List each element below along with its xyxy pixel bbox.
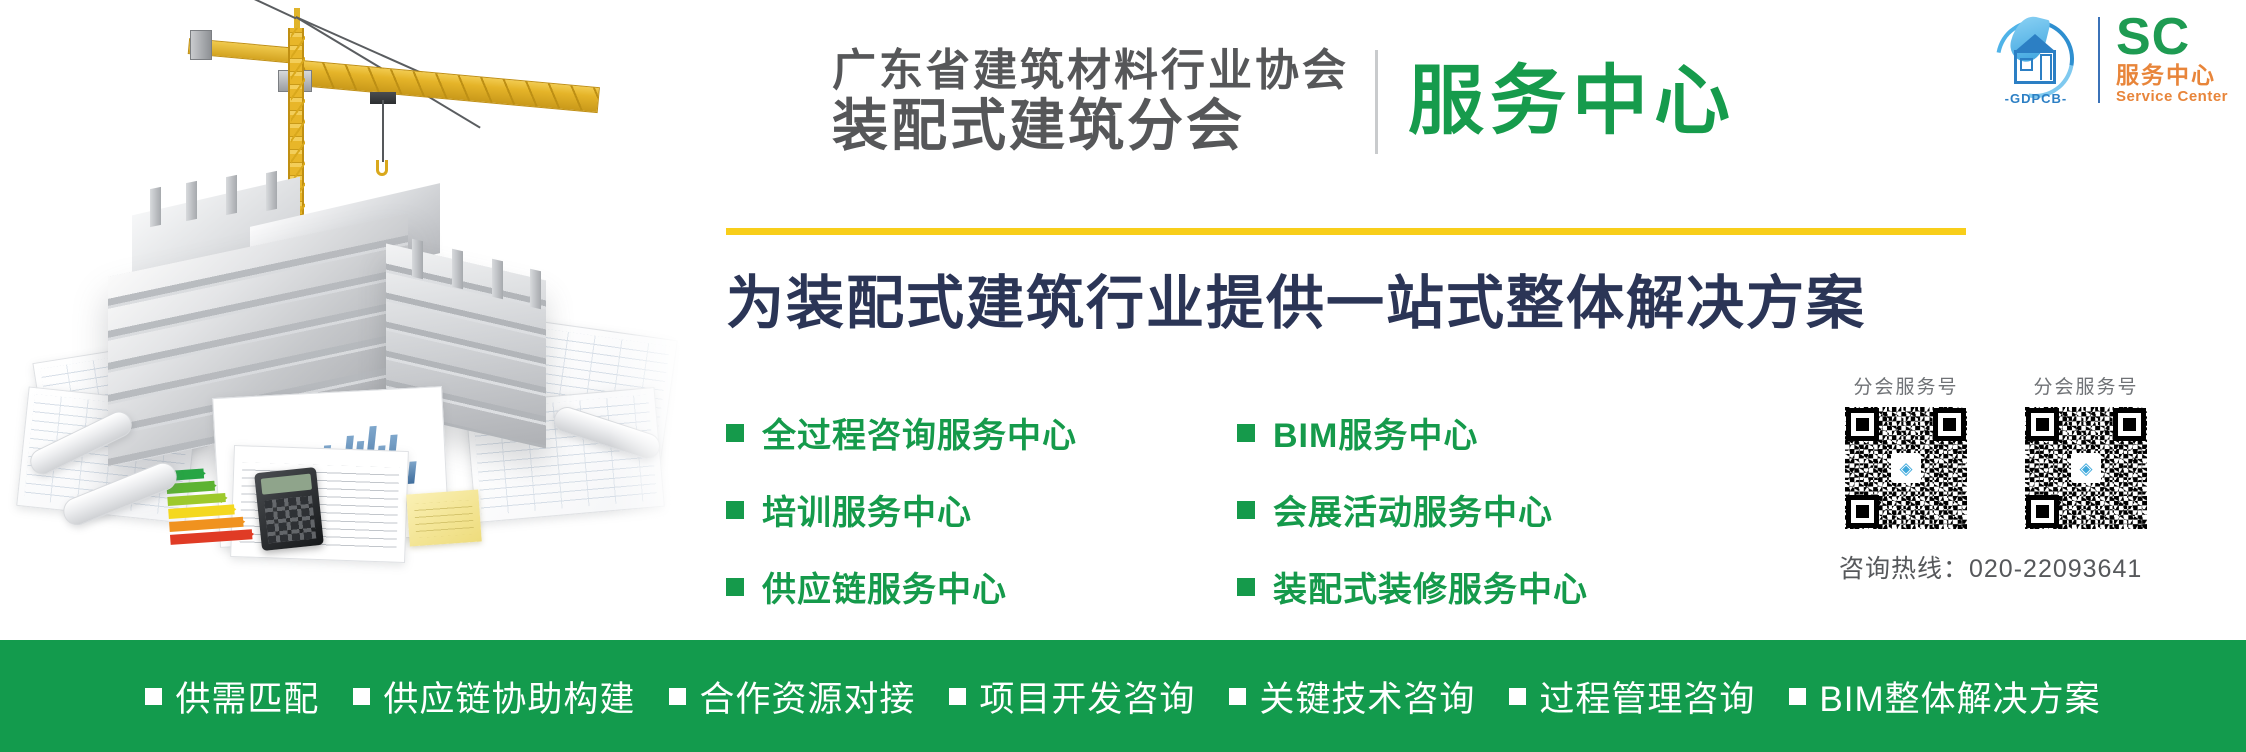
logo-divider [2098,17,2100,103]
capability-item-label: 关键技术咨询 [1259,671,1475,722]
qr-contact-block: 分会服务号◈分会服务号◈ 咨询热线：020-22093641 [1835,372,2235,585]
rebar-column [492,259,503,300]
capability-item[interactable]: 供需匹配 [145,671,319,722]
service-item-label: 培训服务中心 [762,485,972,534]
qr-caption: 分会服务号 [2033,372,2138,399]
bullet-square-icon [1237,424,1255,442]
service-item[interactable]: BIM服务中心 [1237,408,1588,457]
capability-item-label: 项目开发咨询 [979,671,1195,722]
promo-banner: -GDPCB- SC 服务中心 Service Center 广东省建筑材料行业… [0,0,2246,752]
service-item[interactable]: 装配式装修服务中心 [1237,562,1588,611]
capability-item-label: 供需匹配 [175,671,319,722]
qr-code-image[interactable]: ◈ [2025,407,2147,529]
bullet-square-icon [726,501,744,519]
service-item-label: 会展活动服务中心 [1273,485,1553,534]
bullet-square-icon [726,578,744,596]
sticky-note [406,490,481,547]
rebar-column [530,269,541,310]
capability-item[interactable]: BIM整体解决方案 [1789,671,2100,722]
capability-item-label: 合作资源对接 [699,671,915,722]
crane-hook-icon [376,160,388,176]
bullet-square-icon [1237,578,1255,596]
service-center-title: 服务中心 [1408,64,1736,140]
title-divider [1375,50,1378,154]
crane-jib [299,60,600,113]
capability-item-label: 过程管理咨询 [1539,671,1755,722]
brand-logo: -GDPCB- SC 服务中心 Service Center [1990,12,2228,108]
header-title-block: 广东省建筑材料行业协会 装配式建筑分会 服务中心 [832,46,1736,158]
logo-sc-text: SC [2116,14,2190,62]
service-column-right: BIM服务中心会展活动服务中心装配式装修服务中心 [1237,408,1588,611]
capability-item[interactable]: 供应链协助构建 [353,671,635,722]
service-item[interactable]: 培训服务中心 [726,485,1077,534]
bullet-square-icon [1237,501,1255,519]
bullet-square-icon [1509,688,1526,705]
qr-center-logo-icon: ◈ [1891,453,1921,483]
capability-bar: 供需匹配供应链协助构建合作资源对接项目开发咨询关键技术咨询过程管理咨询BIM整体… [0,640,2246,752]
bullet-square-icon [949,688,966,705]
gdpcb-logo-icon: -GDPCB- [1990,14,2082,106]
service-column-left: 全过程咨询服务中心培训服务中心供应链服务中心 [726,408,1077,611]
rebar-column [452,249,463,290]
crane-cable-icon [196,0,296,19]
service-item[interactable]: 供应链服务中心 [726,562,1077,611]
branch-name: 装配式建筑分会 [832,95,1349,158]
slogan-text: 为装配式建筑行业提供一站式整体解决方案 [726,256,1866,340]
bullet-square-icon [1789,688,1806,705]
calculator-icon [254,467,324,551]
capability-item-label: BIM整体解决方案 [1819,671,2100,722]
service-item-label: BIM服务中心 [1273,408,1478,457]
crane-hoist-line [382,100,384,162]
rebar-column [226,175,237,215]
logo-chinese-text: 服务中心 [2116,62,2216,88]
qr-code-cell[interactable]: 分会服务号◈ [1835,372,1977,529]
gold-divider-rule [726,228,1966,235]
qr-code-cell[interactable]: 分会服务号◈ [2015,372,2157,529]
energy-rating-chart [166,465,257,545]
association-name: 广东省建筑材料行业协会 [832,46,1349,95]
bullet-square-icon [1229,688,1246,705]
service-item-label: 装配式装修服务中心 [1273,562,1588,611]
logo-english-text: Service Center [2116,88,2228,106]
capability-item[interactable]: 关键技术咨询 [1229,671,1475,722]
service-item-label: 供应链服务中心 [762,562,1007,611]
capability-item[interactable]: 过程管理咨询 [1509,671,1755,722]
hotline-text: 咨询热线：020-22093641 [1839,549,2235,585]
service-list: 全过程咨询服务中心培训服务中心供应链服务中心 BIM服务中心会展活动服务中心装配… [726,408,1588,611]
qr-code-image[interactable]: ◈ [1845,407,1967,529]
rebar-column [266,171,277,211]
photo-fade-overlay [610,0,700,640]
capability-item-label: 供应链协助构建 [383,671,635,722]
rebar-column [150,187,161,227]
service-item-label: 全过程咨询服务中心 [762,408,1077,457]
crane-counterweight [190,30,212,60]
logo-mark-text: -GDPCB- [1990,91,2082,106]
bullet-square-icon [353,688,370,705]
capability-item[interactable]: 合作资源对接 [669,671,915,722]
qr-caption: 分会服务号 [1853,372,1958,399]
bullet-square-icon [726,424,744,442]
bullet-square-icon [145,688,162,705]
construction-photo [0,0,700,640]
bullet-square-icon [669,688,686,705]
service-item[interactable]: 会展活动服务中心 [1237,485,1588,534]
qr-center-logo-icon: ◈ [2071,453,2101,483]
service-item[interactable]: 全过程咨询服务中心 [726,408,1077,457]
rebar-column [412,239,423,280]
rebar-column [186,181,197,221]
capability-item[interactable]: 项目开发咨询 [949,671,1195,722]
